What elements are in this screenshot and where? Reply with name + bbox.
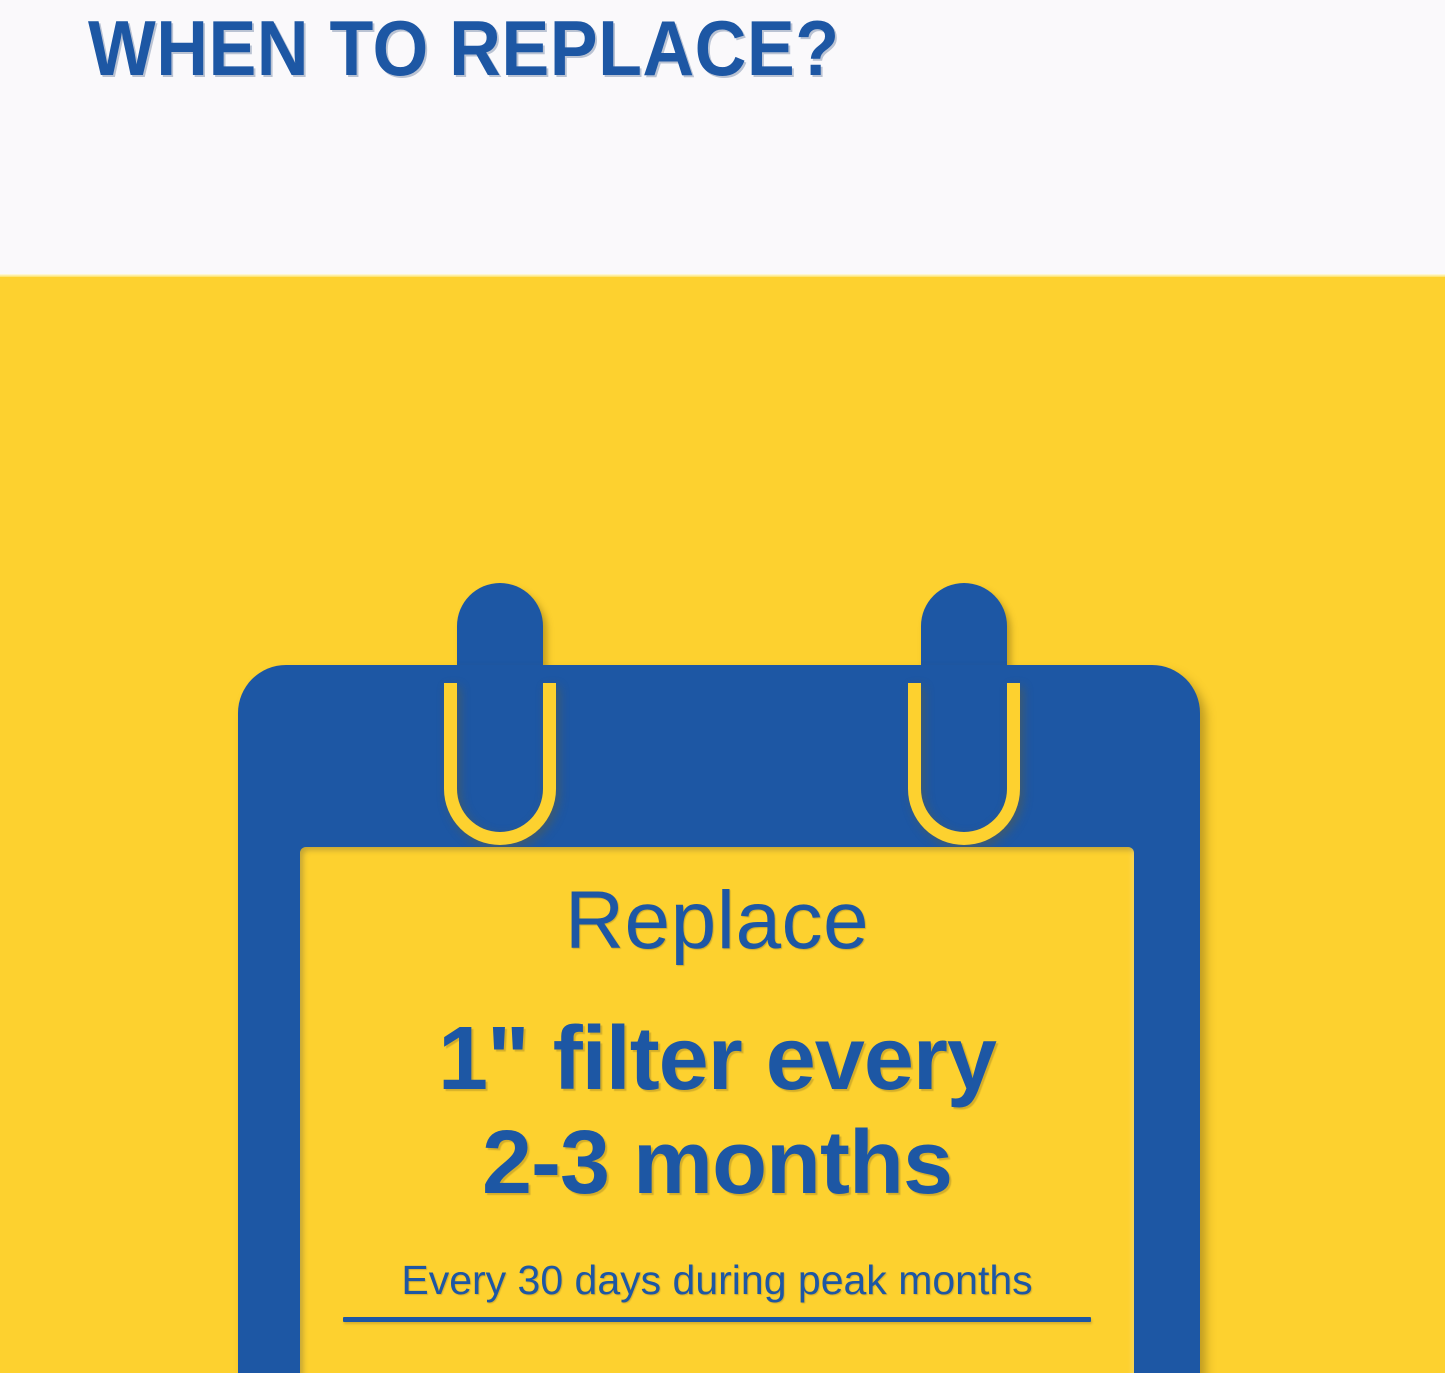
replace-eyebrow: Replace — [565, 873, 869, 969]
calendar-ring-collar-right — [908, 683, 1020, 845]
header-band: WHEN TO REPLACE? — [0, 0, 1445, 277]
calendar-window-content: Replace 1" filter every 2-3 months Every… — [300, 847, 1134, 1373]
calendar-icon: Replace 1" filter every 2-3 months Every… — [238, 583, 1200, 1373]
infographic-page: WHEN TO REPLACE? Replace 1" filter every… — [0, 0, 1445, 1373]
headline-line-1: 1" filter every — [352, 1007, 1082, 1111]
calendar-window: Replace 1" filter every 2-3 months Every… — [300, 847, 1134, 1373]
subtitle-block: Every 30 days during peak months — [352, 1255, 1082, 1322]
subtitle-text: Every 30 days during peak months — [401, 1255, 1032, 1305]
page-title: WHEN TO REPLACE? — [88, 2, 840, 94]
headline-block: 1" filter every 2-3 months — [352, 1007, 1082, 1215]
yellow-stage: Replace 1" filter every 2-3 months Every… — [0, 277, 1445, 1373]
subtitle-underline — [343, 1317, 1091, 1322]
headline-line-2: 2-3 months — [352, 1111, 1082, 1215]
calendar-ring-collar-left — [444, 683, 556, 845]
